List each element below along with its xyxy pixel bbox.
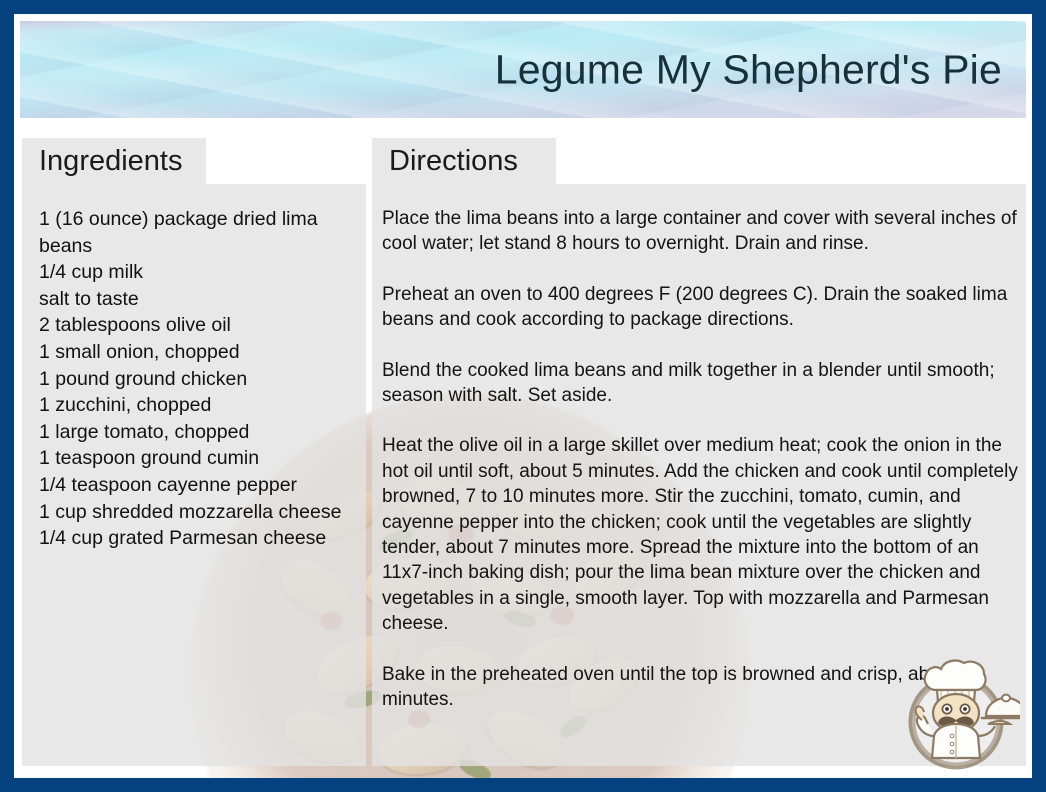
page-title: Legume My Shepherd's Pie — [495, 49, 1002, 90]
list-item: 2 tablespoons olive oil — [39, 312, 356, 339]
page-surface: Legume My Shepherd's Pie — [14, 14, 1032, 778]
direction-step: Blend the cooked lima beans and milk tog… — [382, 358, 1018, 409]
list-item: salt to taste — [39, 286, 356, 313]
chef-mascot-logo — [892, 650, 1020, 770]
direction-step: Place the lima beans into a large contai… — [382, 206, 1018, 257]
recipe-card: Legume My Shepherd's Pie — [0, 0, 1046, 792]
list-item: 1 teaspoon ground cumin — [39, 445, 356, 472]
direction-step: Heat the olive oil in a large skillet ov… — [382, 433, 1018, 636]
ingredients-heading: Ingredients — [39, 144, 183, 179]
list-item: 1/4 cup milk — [39, 259, 356, 286]
ingredients-panel: Ingredients 1 (16 ounce) package dried l… — [22, 138, 366, 766]
list-item: 1/4 cup grated Parmesan cheese — [39, 525, 356, 552]
title-banner: Legume My Shepherd's Pie — [20, 21, 1026, 118]
list-item: 1 small onion, chopped — [39, 339, 356, 366]
list-item: 1 cup shredded mozzarella cheese — [39, 499, 356, 526]
list-item: 1 pound ground chicken — [39, 366, 356, 393]
ingredient-list: 1 (16 ounce) package dried lima beans 1/… — [39, 206, 356, 552]
directions-panel-notch — [556, 138, 1026, 184]
list-item: 1/4 teaspoon cayenne pepper — [39, 472, 356, 499]
directions-heading: Directions — [389, 144, 518, 179]
list-item: 1 large tomato, chopped — [39, 419, 356, 446]
ingredients-panel-notch — [206, 138, 366, 184]
directions-step-list: Place the lima beans into a large contai… — [382, 206, 1018, 713]
list-item: 1 zucchini, chopped — [39, 392, 356, 419]
direction-step: Preheat an oven to 400 degrees F (200 de… — [382, 282, 1018, 333]
list-item: 1 (16 ounce) package dried lima beans — [39, 206, 356, 259]
